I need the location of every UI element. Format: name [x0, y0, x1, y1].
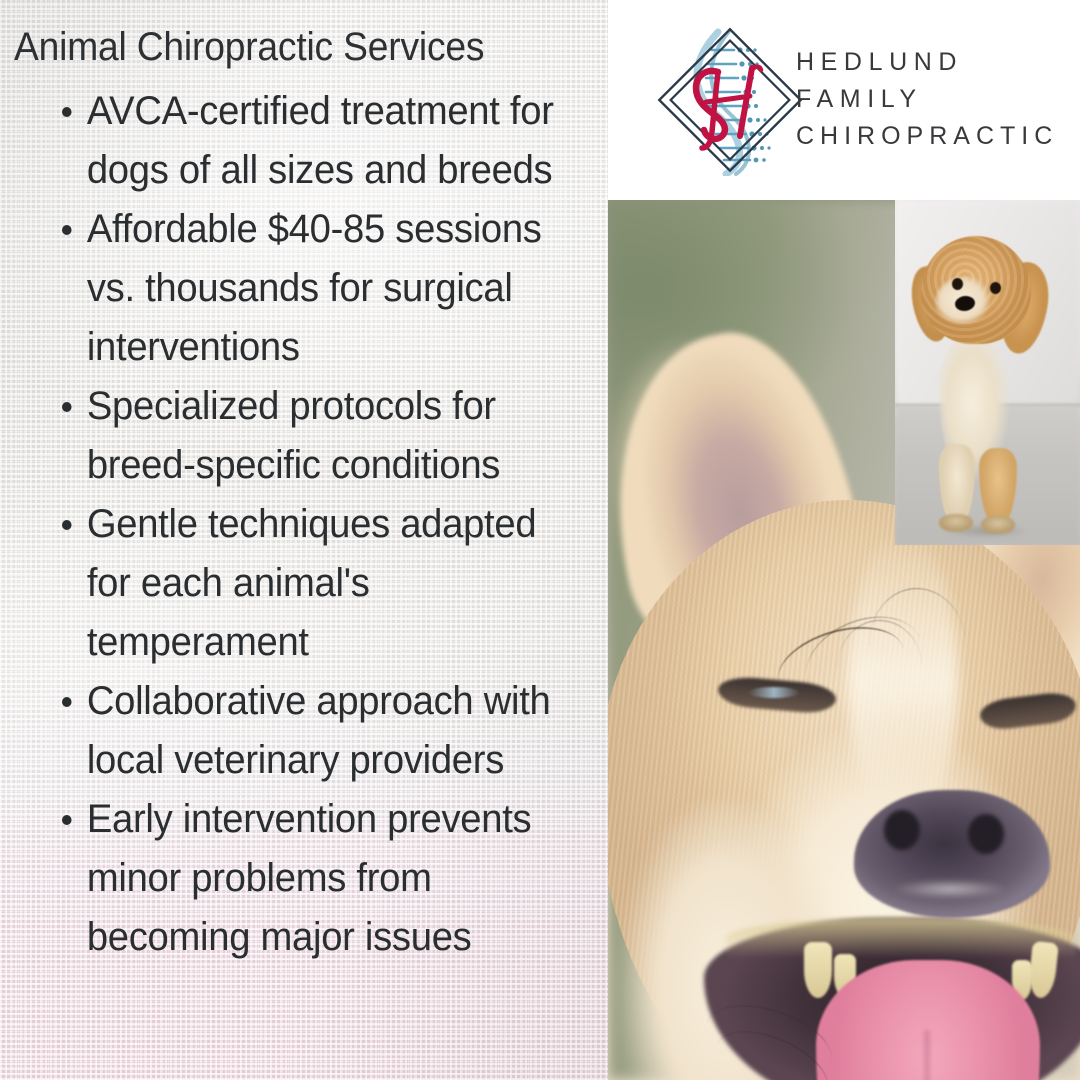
page-title: Animal Chiropractic Services [14, 26, 484, 68]
brand-logo: HEDLUND FAMILY CHIROPRACTIC [608, 0, 1080, 200]
list-item: AVCA-certified treatment for dogs of all… [62, 82, 559, 200]
bullet-dot-icon [62, 697, 72, 707]
list-item-text: Early intervention prevents minor proble… [87, 797, 532, 959]
social-post-canvas: Animal Chiropractic Services AVCA-certif… [0, 0, 1080, 1080]
bullet-dot-icon [62, 225, 72, 235]
bullet-dot-icon [62, 402, 72, 412]
poodle-paw [939, 514, 973, 532]
list-item: Early intervention prevents minor proble… [62, 790, 559, 967]
logo-line-3: CHIROPRACTIC [796, 118, 1080, 155]
poodle-paw [981, 516, 1015, 534]
list-item: Affordable $40-85 sessions vs. thousands… [62, 200, 559, 377]
list-item-text: AVCA-certified treatment for dogs of all… [87, 89, 554, 192]
list-item-text: Collaborative approach with local veteri… [87, 679, 551, 782]
services-bullet-list: AVCA-certified treatment for dogs of all… [0, 82, 608, 967]
logo-wordmark: HEDLUND FAMILY CHIROPRACTIC [796, 44, 1080, 155]
text-panel: Animal Chiropractic Services AVCA-certif… [0, 0, 608, 1080]
dog-nose-highlight [870, 876, 1030, 902]
poodle-eye-right [990, 282, 1001, 294]
list-item-text: Specialized protocols for breed-specific… [87, 384, 500, 487]
list-item: Collaborative approach with local veteri… [62, 672, 559, 790]
dog-tongue-crease [924, 1030, 930, 1080]
diamond-spine-monogram-icon [656, 24, 806, 176]
list-item-text: Gentle techniques adapted for each anima… [87, 502, 536, 664]
list-item-text: Affordable $40-85 sessions vs. thousands… [87, 207, 542, 369]
dog-nostril [884, 810, 920, 850]
dog-tooth [804, 942, 832, 998]
logo-line-2: FAMILY [796, 81, 1080, 118]
shiba-inu-closeup-photo [608, 200, 1080, 1080]
bullet-dot-icon [62, 815, 72, 825]
poodle-eye-left [952, 278, 963, 290]
logo-line-1: HEDLUND [796, 44, 1080, 81]
bullet-dot-icon [62, 520, 72, 530]
media-column: HEDLUND FAMILY CHIROPRACTIC [608, 0, 1080, 1080]
bullet-dot-icon [62, 107, 72, 117]
dog-nostril [968, 814, 1004, 854]
list-item: Specialized protocols for breed-specific… [62, 377, 559, 495]
toy-poodle-standing-photo [895, 200, 1080, 545]
list-item: Gentle techniques adapted for each anima… [62, 495, 559, 672]
